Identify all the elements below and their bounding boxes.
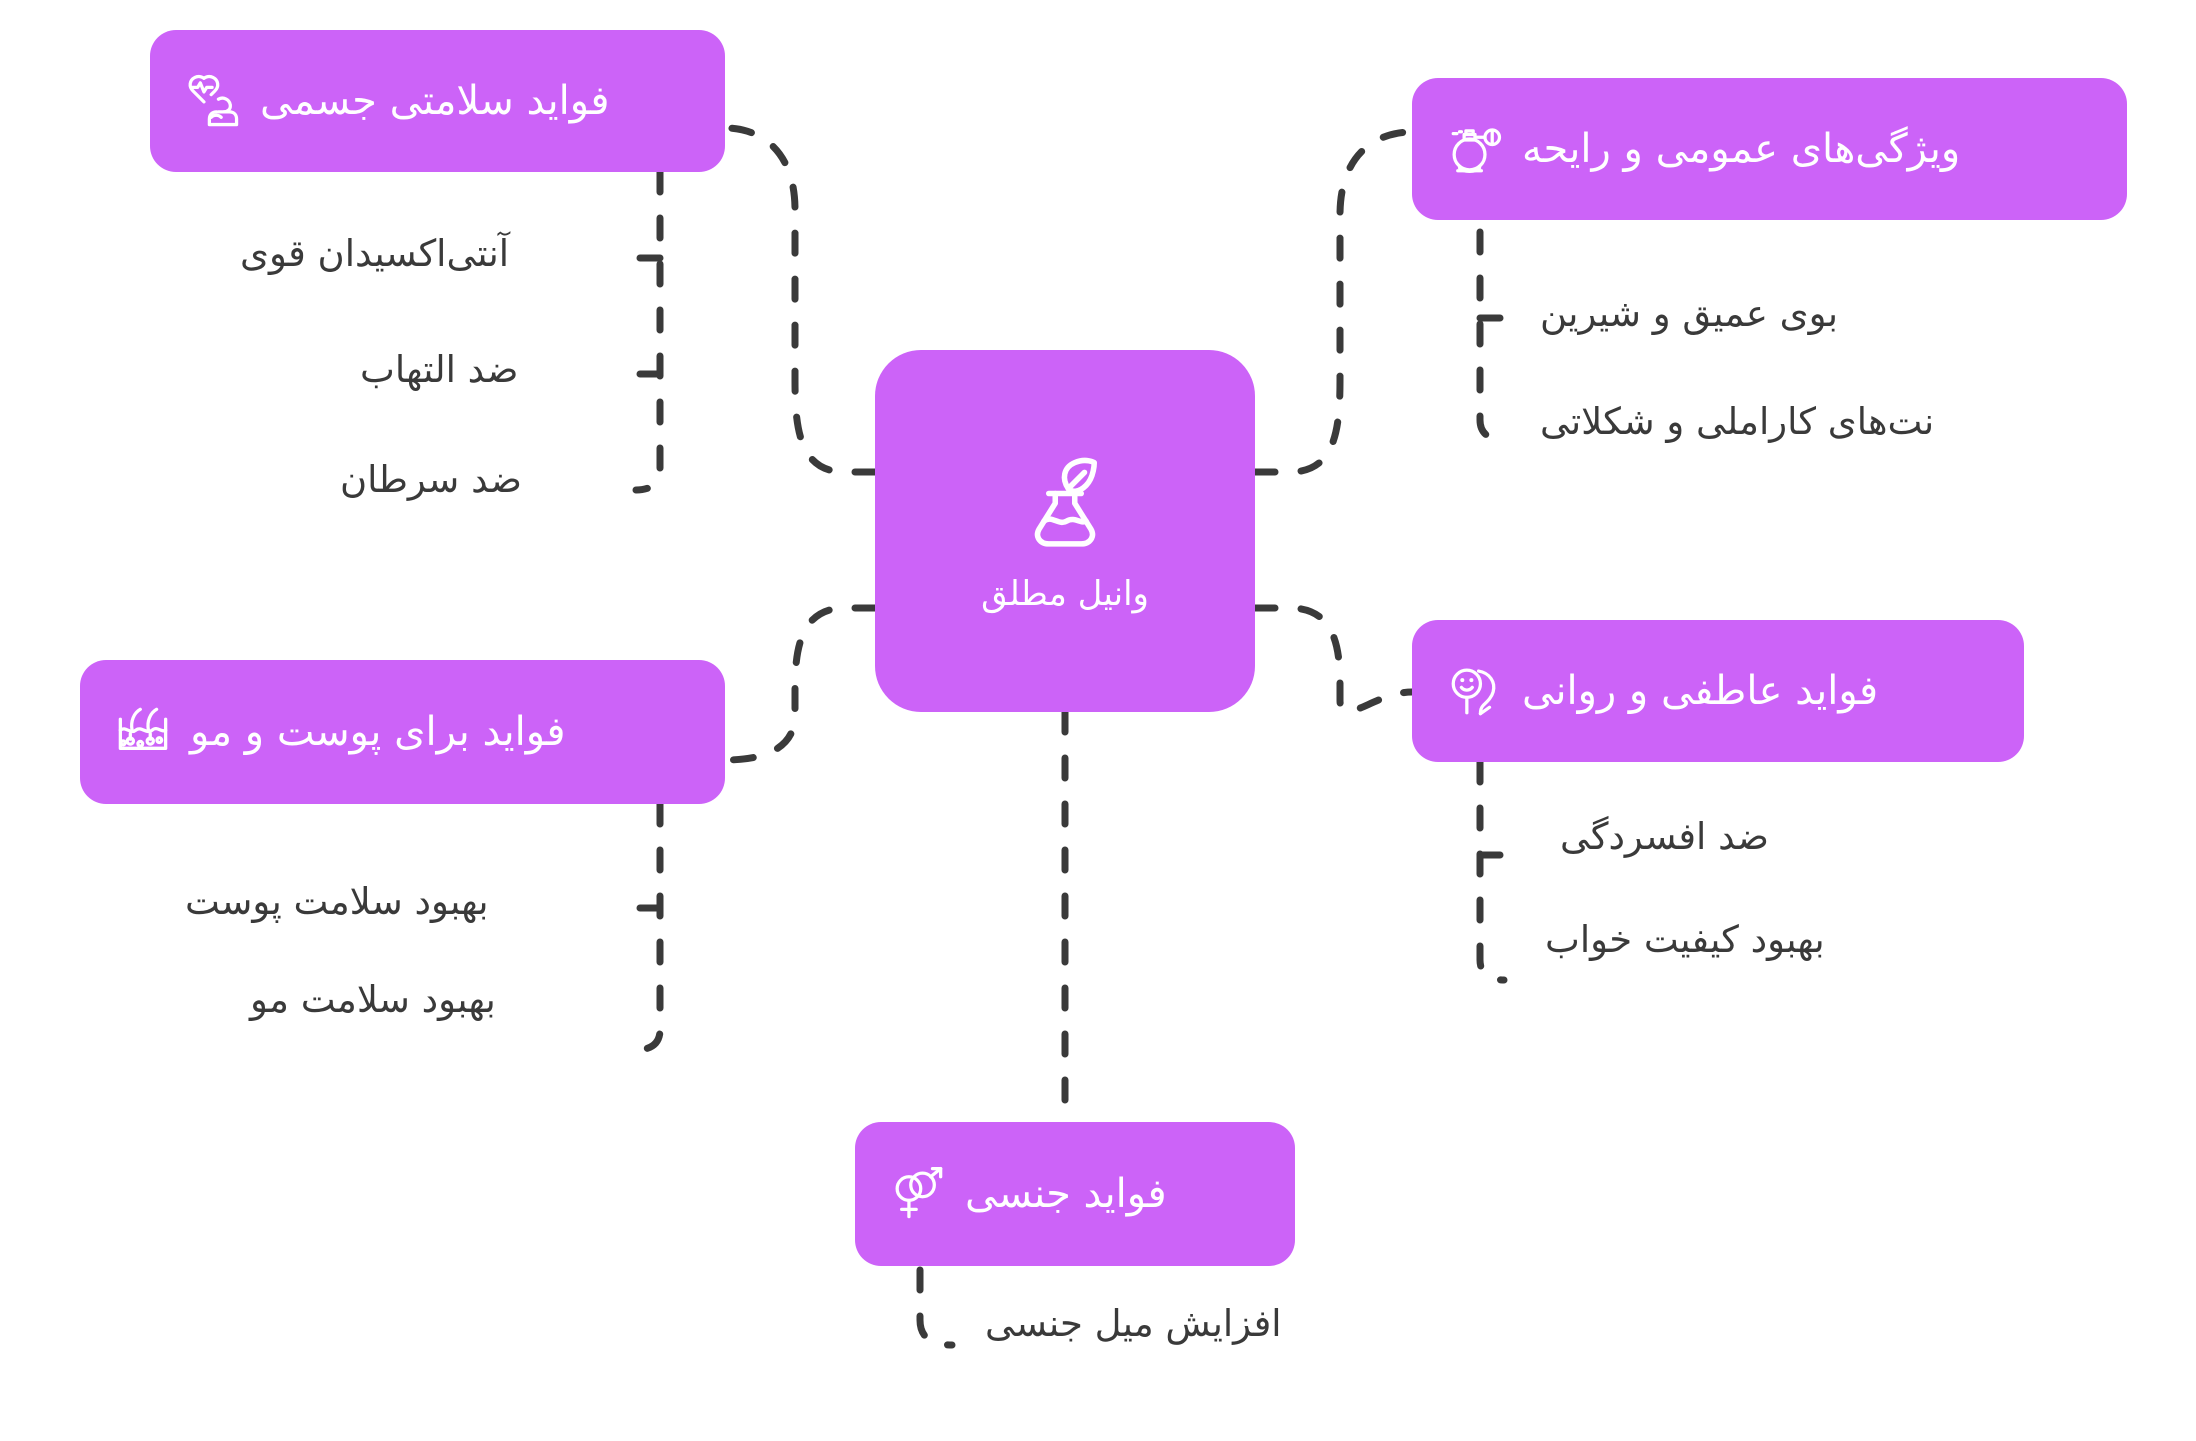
edge-root-emotional	[1255, 608, 1412, 712]
head-smiley-icon	[1446, 662, 1504, 720]
branch-node-emotional-mental[interactable]: فواید عاطفی و روانی	[1412, 620, 2024, 762]
leaf-skin-hair-2: بهبود سلامت مو	[250, 978, 496, 1022]
branch-node-sexual[interactable]: فواید جنسی	[855, 1122, 1295, 1266]
leaf-emotional-mental-1: ضد افسردگی	[1560, 815, 1769, 859]
edge-root-physical-health	[725, 128, 875, 472]
leaf-emotional-mental-2: بهبود کیفیت خواب	[1545, 918, 1825, 962]
edge-physical-children	[636, 172, 660, 490]
branch-label-emotional-mental: فواید عاطفی و روانی	[1522, 666, 1878, 716]
leaf-physical-health-2: ضد التهاب	[360, 348, 518, 392]
branch-label-general-aroma: ویژگی‌های عمومی و رایحه	[1522, 124, 1960, 174]
skin-follicle-icon	[114, 703, 172, 761]
mindmap-canvas: وانیل مطلق فواید سلامتی جسمی آنتی‌اکسیدا…	[0, 0, 2196, 1441]
gender-symbols-icon	[889, 1165, 947, 1223]
leaf-physical-health-3: ضد سرطان	[340, 458, 522, 502]
heart-pulse-bicep-icon	[184, 72, 242, 130]
branch-label-physical-health: فواید سلامتی جسمی	[260, 76, 610, 126]
branch-label-skin-hair: فواید برای پوست و مو	[190, 707, 566, 757]
edge-skin-children	[636, 804, 660, 1050]
branch-node-skin-hair[interactable]: فواید برای پوست و مو	[80, 660, 725, 804]
edge-emotional-children	[1480, 762, 1504, 980]
branch-node-general-aroma[interactable]: ویژگی‌های عمومی و رایحه	[1412, 78, 2127, 220]
branch-node-physical-health[interactable]: فواید سلامتی جسمی	[150, 30, 725, 172]
edge-root-general-aroma	[1255, 132, 1412, 472]
root-label: وانیل مطلق	[981, 574, 1149, 614]
perfume-bottle-icon	[1446, 120, 1504, 178]
leaf-physical-health-1: آنتی‌اکسیدان قوی	[240, 232, 509, 276]
leaf-sexual-1: افزایش میل جنسی	[985, 1302, 1282, 1346]
branch-label-sexual: فواید جنسی	[965, 1169, 1167, 1219]
leaf-skin-hair-1: بهبود سلامت پوست	[185, 880, 489, 924]
leaf-general-aroma-2: نت‌های کاراملی و شکلاتی	[1540, 400, 1934, 444]
edge-sexual-children	[920, 1270, 952, 1345]
flask-leaf-icon	[1013, 448, 1117, 552]
edge-root-skin-hair	[725, 608, 875, 760]
root-node[interactable]: وانیل مطلق	[875, 350, 1255, 712]
leaf-general-aroma-1: بوی عمیق و شیرین	[1540, 292, 1838, 336]
edge-aroma-children	[1480, 232, 1504, 440]
